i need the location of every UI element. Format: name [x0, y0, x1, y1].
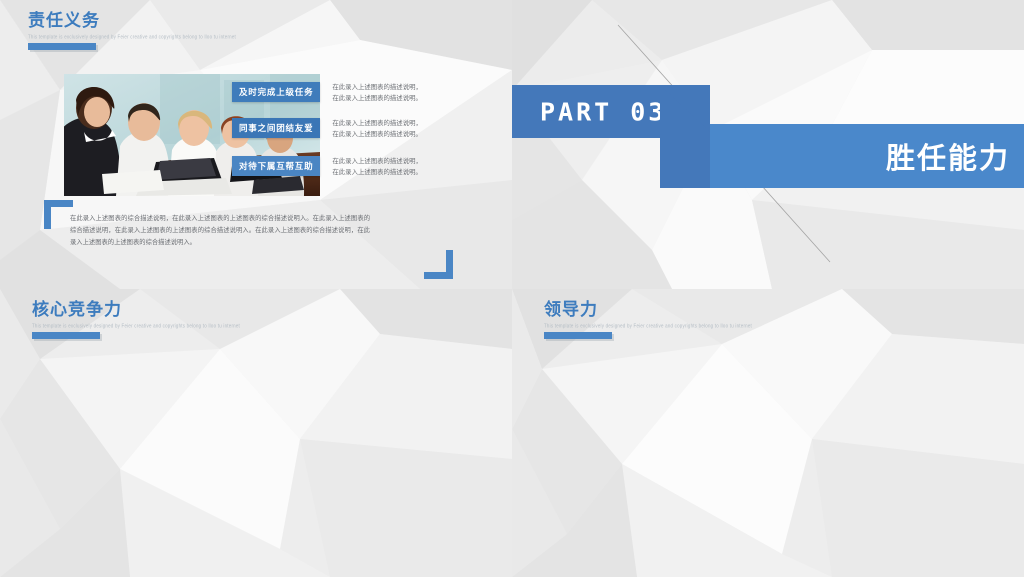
title-underline-bar	[544, 332, 612, 339]
slide3-header: 核心竞争力 This template is exclusively desig…	[32, 301, 240, 339]
tag-label: 同事之间团结友爱	[232, 118, 320, 138]
tag-label: 对待下属互帮互助	[232, 156, 320, 176]
bracket-bottom-right	[424, 250, 453, 279]
section-title: 胜任能力	[886, 135, 1010, 177]
section-title-band: 胜任能力	[710, 124, 1024, 188]
summary-paragraph: 在此录入上述图表的综合描述说明，在此录入上述图表的上述图表的综合描述说明入。在此…	[70, 213, 370, 249]
list-item[interactable]: 对待下属互帮互助 在此录入上述图表的描述说明， 在此录入上述图表的描述说明。	[232, 156, 502, 178]
page-title: 责任义务	[28, 12, 236, 31]
watermark-subtitle: This template is exclusively designed by…	[32, 323, 240, 329]
part-number-band: PART 03	[512, 85, 710, 138]
tag-description: 在此录入上述图表的描述说明， 在此录入上述图表的描述说明。	[332, 118, 421, 140]
title-underline-bar	[28, 43, 96, 50]
slide4-header: 领导力 This template is exclusively designe…	[544, 301, 752, 339]
responsibility-tag-list: 及时完成上级任务 在此录入上述图表的描述说明， 在此录入上述图表的描述说明。 同…	[232, 82, 502, 192]
list-item[interactable]: 同事之间团结友爱 在此录入上述图表的描述说明， 在此录入上述图表的描述说明。	[232, 118, 502, 140]
slide-thumbnail-grid: 责任义务 This template is exclusively design…	[0, 0, 1024, 577]
watermark-subtitle: This template is exclusively designed by…	[544, 323, 752, 329]
slide-leadership[interactable]: 领导力 This template is exclusively designe…	[512, 289, 1024, 577]
tag-label: 及时完成上级任务	[232, 82, 320, 102]
slide-responsibility[interactable]: 责任义务 This template is exclusively design…	[0, 0, 512, 289]
slide-part-03[interactable]: PART 03 胜任能力	[512, 0, 1024, 289]
tag-description: 在此录入上述图表的描述说明， 在此录入上述图表的描述说明。	[332, 156, 421, 178]
bracket-top-left	[44, 200, 73, 229]
page-title: 核心竞争力	[32, 301, 240, 320]
title-underline-bar	[32, 332, 100, 339]
part-label: PART 03	[540, 97, 666, 126]
slide-core-competitiveness[interactable]: 核心竞争力 This template is exclusively desig…	[0, 289, 512, 577]
slide1-header: 责任义务 This template is exclusively design…	[28, 12, 236, 50]
list-item[interactable]: 及时完成上级任务 在此录入上述图表的描述说明， 在此录入上述图表的描述说明。	[232, 82, 502, 104]
tag-description: 在此录入上述图表的描述说明， 在此录入上述图表的描述说明。	[332, 82, 421, 104]
page-title: 领导力	[544, 301, 752, 320]
watermark-subtitle: This template is exclusively designed by…	[28, 34, 236, 40]
